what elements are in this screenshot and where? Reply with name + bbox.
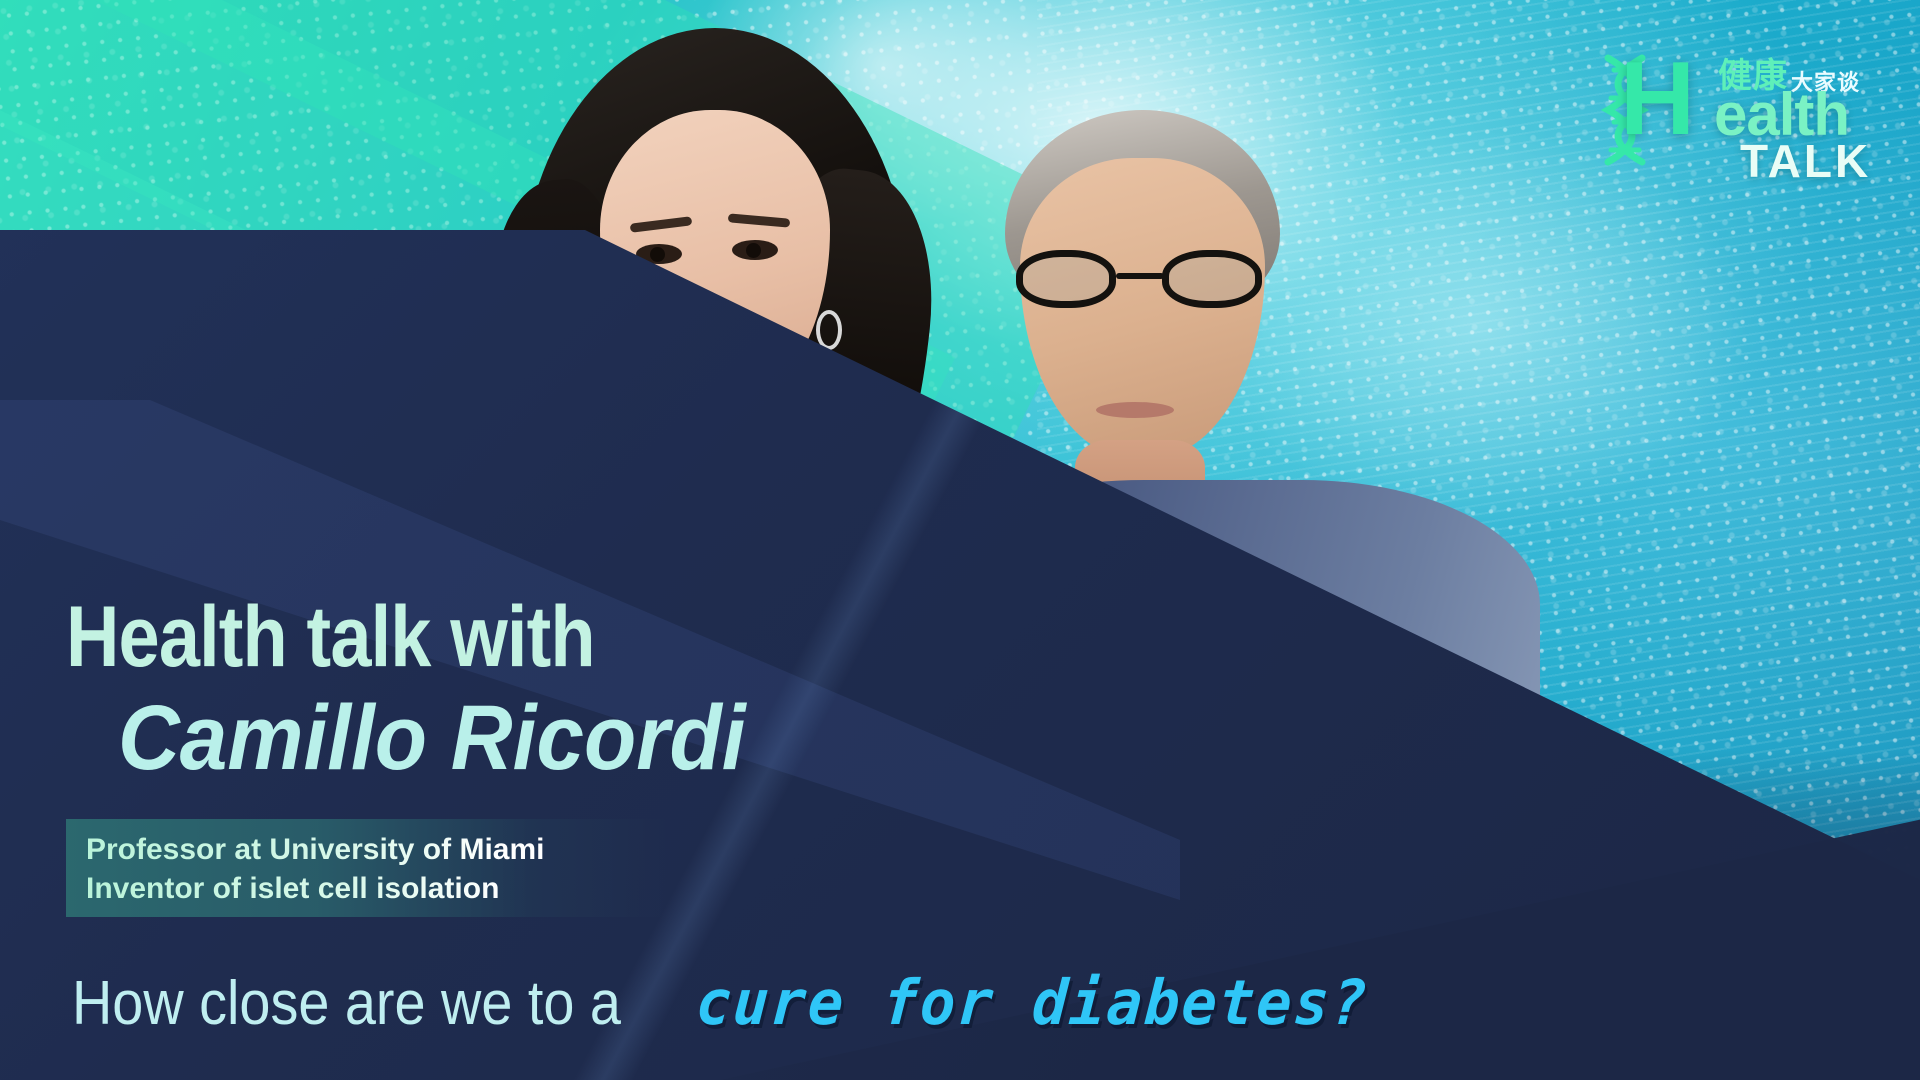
credential-line-2: Inventor of islet cell isolation	[86, 869, 666, 908]
question-line: How close are we to a cure for diabetes?	[72, 966, 1404, 1039]
video-thumbnail: H 健康 大家谈 ealth TALK Health talk with Cam…	[0, 0, 1920, 1080]
title-line-1: Health talk with	[66, 588, 595, 687]
text-block: Health talk with Camillo Ricordi Profess…	[0, 0, 1920, 1080]
question-highlight-text: cure for diabetes?	[694, 966, 1371, 1039]
question-plain-text: How close are we to a	[72, 968, 621, 1039]
title-line-2: Camillo Ricordi	[118, 686, 746, 791]
credentials-band: Professor at University of Miami Invento…	[66, 819, 666, 917]
credential-line-1: Professor at University of Miami	[86, 830, 666, 869]
